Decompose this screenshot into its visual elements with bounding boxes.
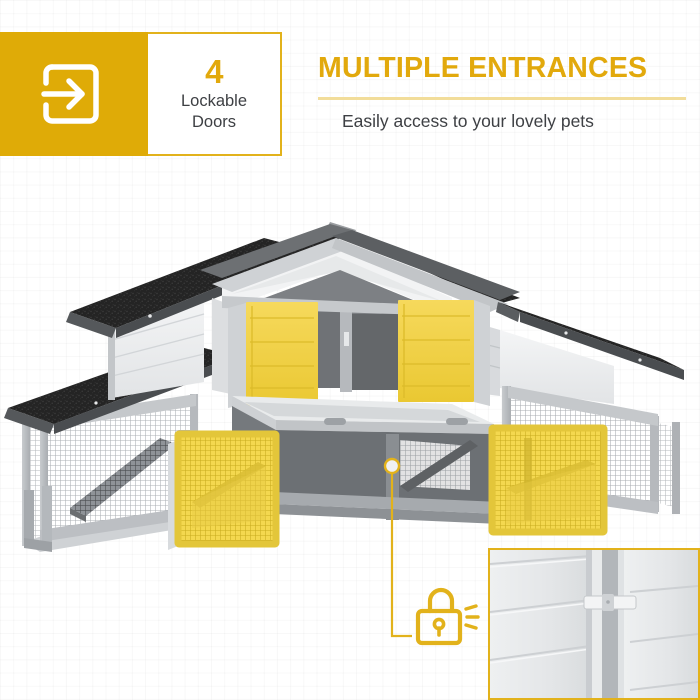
title-divider bbox=[318, 97, 686, 100]
open-padlock-icon bbox=[412, 583, 484, 651]
header-banner: 4 Lockable Doors MULTIPLE ENTRANCES Easi… bbox=[0, 32, 700, 156]
hutch-drawing bbox=[0, 190, 700, 590]
page-title: MULTIPLE ENTRANCES bbox=[318, 52, 690, 85]
header-title-area: MULTIPLE ENTRANCES Easily access to your… bbox=[318, 32, 690, 156]
enter-door-arrow-icon bbox=[32, 57, 106, 131]
latch-closeup-drawing bbox=[490, 550, 698, 698]
doors-label-line2: Doors bbox=[192, 112, 236, 133]
lockable-doors-count-box: 4 Lockable Doors bbox=[148, 32, 282, 156]
door-latch-detail-inset bbox=[488, 548, 700, 700]
page-subtitle: Easily access to your lovely pets bbox=[342, 111, 690, 132]
doors-label-line1: Lockable bbox=[181, 91, 247, 112]
product-illustration bbox=[0, 190, 700, 590]
doors-count: 4 bbox=[205, 55, 223, 88]
infographic-page: 4 Lockable Doors MULTIPLE ENTRANCES Easi… bbox=[0, 0, 700, 700]
header-icon-block bbox=[0, 32, 148, 156]
